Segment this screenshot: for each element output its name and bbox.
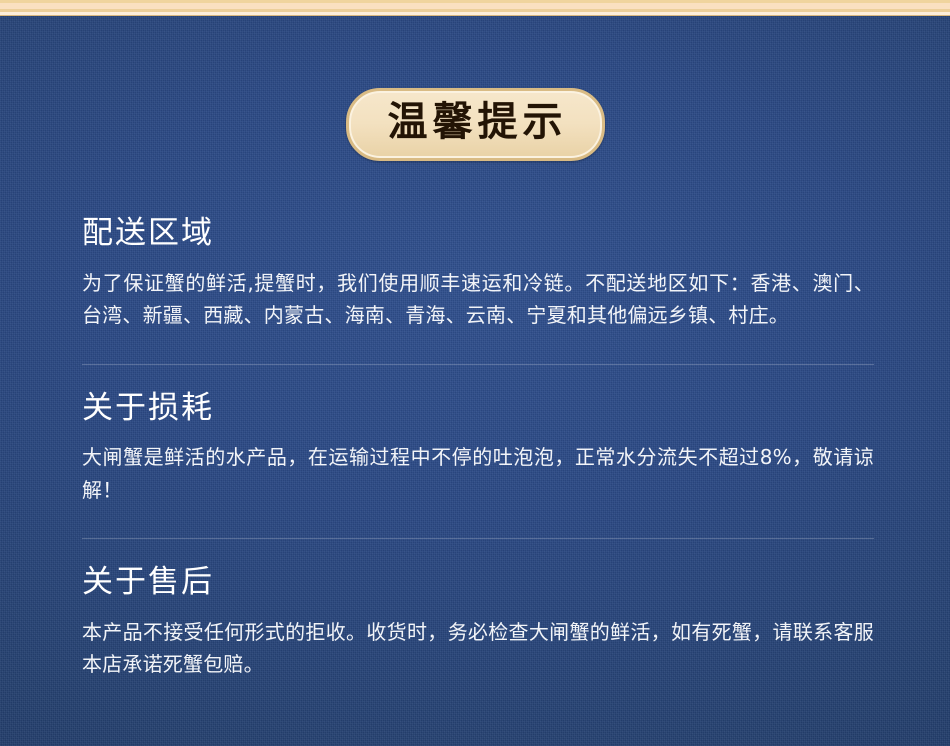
title-badge-container: 温馨提示 [0,88,950,161]
title-badge: 温馨提示 [346,88,605,161]
page-title: 温馨提示 [383,100,568,145]
section-heading-loss-policy: 关于损耗 [82,389,874,428]
gold-band-stripe-5 [0,15,950,16]
section-heading-after-sales: 关于售后 [82,563,874,602]
section-after-sales: 关于售后 本产品不接受任何形式的拒收。收货时，务必检查大闸蟹的鲜活，如有死蟹，请… [82,539,874,681]
notice-sections: 配送区域 为了保证蟹的鲜活,提蟹时，我们使用顺丰速运和冷链。不配送地区如下：香港… [82,214,874,681]
section-delivery-area: 配送区域 为了保证蟹的鲜活,提蟹时，我们使用顺丰速运和冷链。不配送地区如下：香港… [82,214,874,364]
section-heading-delivery-area: 配送区域 [82,214,874,253]
section-body-loss-policy: 大闸蟹是鲜活的水产品，在运输过程中不停的吐泡泡，正常水分流失不超过8%，敬请谅解… [82,441,874,506]
section-body-delivery-area: 为了保证蟹的鲜活,提蟹时，我们使用顺丰速运和冷链。不配送地区如下：香港、澳门、台… [82,267,874,332]
top-gold-band [0,0,950,16]
section-body-after-sales: 本产品不接受任何形式的拒收。收货时，务必检查大闸蟹的鲜活，如有死蟹，请联系客服本… [82,616,874,681]
section-loss-policy: 关于损耗 大闸蟹是鲜活的水产品，在运输过程中不停的吐泡泡，正常水分流失不超过8%… [82,365,874,539]
promo-notice-page: 温馨提示 配送区域 为了保证蟹的鲜活,提蟹时，我们使用顺丰速运和冷链。不配送地区… [0,0,950,746]
